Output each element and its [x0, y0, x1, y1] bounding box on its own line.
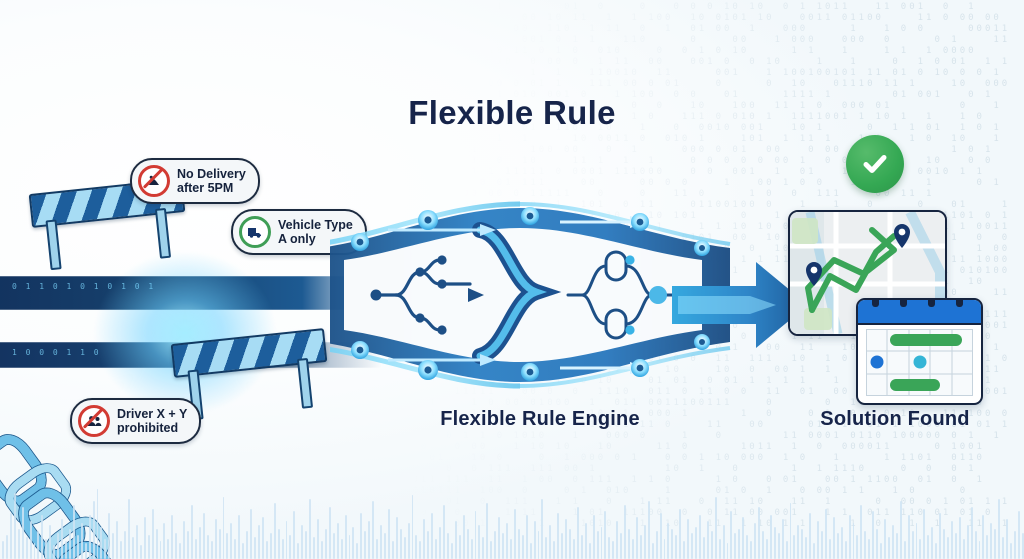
equalizer-bar — [691, 533, 693, 559]
equalizer-bar — [494, 531, 496, 559]
equalizer-bar — [963, 539, 965, 559]
equalizer-bar — [510, 539, 512, 559]
rule-pill-label: No Delivery after 5PM — [177, 167, 246, 195]
equalizer-bar — [467, 529, 469, 559]
equalizer-bar — [624, 505, 626, 559]
equalizer-bar — [786, 541, 788, 559]
equalizer-bar — [423, 519, 425, 559]
equalizer-bar — [770, 515, 772, 559]
calendar-event-dot — [871, 356, 884, 369]
equalizer-bar — [368, 521, 370, 559]
equalizer-bar — [750, 541, 752, 559]
equalizer-bar — [545, 537, 547, 559]
equalizer-bar — [37, 531, 39, 559]
equalizer-bar — [813, 543, 815, 559]
equalizer-bar — [738, 529, 740, 559]
equalizer-bar — [707, 521, 709, 559]
equalizer-bar — [10, 513, 12, 559]
equalizer-bar — [392, 541, 394, 559]
equalizer-bar — [565, 519, 567, 559]
equalizer-bar — [821, 531, 823, 559]
equalizer-bar — [526, 515, 528, 559]
equalizer-bar — [309, 499, 311, 559]
calendar-ring-icon — [872, 298, 879, 307]
equalizer-bar — [782, 519, 784, 559]
equalizer-bar — [455, 521, 457, 559]
equalizer-bar — [128, 499, 130, 559]
equalizer-bar — [266, 541, 268, 559]
equalizer-bar — [990, 523, 992, 559]
equalizer-bar — [845, 541, 847, 559]
equalizer-bar — [530, 543, 532, 559]
equalizer-bar — [396, 517, 398, 559]
equalizer-bar — [597, 531, 599, 559]
equalizer-bar — [506, 523, 508, 559]
equalizer-bar — [979, 541, 981, 559]
equalizer-bar — [61, 519, 63, 559]
schedule-calendar-card[interactable] — [856, 298, 983, 405]
truck-icon — [239, 216, 271, 248]
equalizer-bar — [447, 533, 449, 559]
equalizer-bar — [333, 533, 335, 559]
equalizer-bar — [601, 527, 603, 559]
equalizer-bar — [69, 529, 71, 559]
equalizer-bar — [435, 539, 437, 559]
equalizer-bar — [632, 539, 634, 559]
calendar-ring-icon — [900, 298, 907, 307]
equalizer-bar — [183, 521, 185, 559]
equalizer-bar — [451, 543, 453, 559]
equalizer-bar — [179, 543, 181, 559]
equalizer-bar — [927, 535, 929, 559]
equalizer-bar — [57, 533, 59, 559]
equalizer-bar — [286, 521, 288, 559]
equalizer-bar — [825, 509, 827, 559]
equalizer-bar — [329, 507, 331, 559]
equalizer-bar — [254, 537, 256, 559]
equalizer-bar — [703, 537, 705, 559]
equalizer-bar — [478, 525, 480, 559]
equalizer-bar — [727, 543, 729, 559]
equalizer-bar — [250, 509, 252, 559]
equalizer-bar — [971, 507, 973, 559]
equalizer-bar — [967, 525, 969, 559]
equalizer-bar — [297, 543, 299, 559]
equalizer-bar — [892, 525, 894, 559]
equalizer-bar — [762, 531, 764, 559]
equalizer-bar — [754, 523, 756, 559]
equalizer-bar — [955, 533, 957, 559]
equalizer-bar — [463, 515, 465, 559]
equalizer-bar — [679, 509, 681, 559]
equalizer-bar — [931, 527, 933, 559]
equalizer-bar — [628, 529, 630, 559]
equalizer-bar — [904, 541, 906, 559]
no-delivery-icon — [138, 165, 170, 197]
equalizer-bar — [26, 537, 28, 559]
equalizer-bar — [730, 511, 732, 559]
audio-equalizer-band — [0, 449, 1024, 559]
equalizer-bar — [325, 529, 327, 559]
equalizer-bar — [112, 533, 114, 559]
equalizer-bar — [301, 525, 303, 559]
equalizer-bar — [793, 535, 795, 559]
equalizer-bar — [959, 517, 961, 559]
equalizer-bar — [431, 513, 433, 559]
calendar-grid — [866, 329, 973, 396]
equalizer-bar — [41, 515, 43, 559]
equalizer-bar — [538, 531, 540, 559]
equalizer-bar — [671, 529, 673, 559]
equalizer-bar — [947, 537, 949, 559]
equalizer-bar — [640, 535, 642, 559]
equalizer-bar — [593, 515, 595, 559]
equalizer-bar — [408, 523, 410, 559]
equalizer-bar — [951, 521, 953, 559]
equalizer-bar — [805, 537, 807, 559]
equalizer-bar — [809, 513, 811, 559]
equalizer-bar — [120, 541, 122, 559]
equalizer-bar — [790, 503, 792, 559]
equalizer-bar — [888, 537, 890, 559]
equalizer-bar — [557, 513, 559, 559]
equalizer-bar — [49, 525, 51, 559]
equalizer-bar — [1002, 537, 1004, 559]
equalizer-bar — [853, 523, 855, 559]
equalizer-bar — [876, 529, 878, 559]
equalizer-bar — [419, 541, 421, 559]
equalizer-bar — [766, 539, 768, 559]
equalizer-bar — [345, 515, 347, 559]
solution-caption: Solution Found — [770, 408, 1020, 431]
equalizer-bar — [577, 507, 579, 559]
equalizer-bar — [219, 529, 221, 559]
equalizer-bar — [321, 541, 323, 559]
equalizer-bar — [522, 535, 524, 559]
equalizer-bar — [636, 517, 638, 559]
equalizer-bar — [89, 515, 91, 559]
equalizer-bar — [388, 509, 390, 559]
equalizer-bar — [939, 513, 941, 559]
solution-illustration — [770, 135, 1010, 400]
equalizer-bar — [14, 493, 16, 559]
equalizer-bar — [774, 527, 776, 559]
check-circle-icon — [846, 135, 904, 193]
engine-caption: Flexible Rule Engine — [380, 408, 700, 431]
equalizer-bar — [982, 515, 984, 559]
equalizer-bar — [935, 543, 937, 559]
equalizer-bar — [1014, 531, 1016, 559]
equalizer-bar — [404, 537, 406, 559]
equalizer-bar — [341, 539, 343, 559]
equalizer-bar — [908, 515, 910, 559]
equalizer-bar — [471, 539, 473, 559]
equalizer-bar — [742, 517, 744, 559]
equalizer-bar — [975, 531, 977, 559]
rule-pill-label: Driver X + Y prohibited — [117, 407, 187, 435]
equalizer-bar — [719, 539, 721, 559]
equalizer-bar — [85, 543, 87, 559]
equalizer-bar — [880, 543, 882, 559]
equalizer-bar — [612, 541, 614, 559]
equalizer-bar — [864, 531, 866, 559]
equalizer-bar — [223, 497, 225, 559]
equalizer-bar — [486, 503, 488, 559]
equalizer-bar — [656, 531, 658, 559]
equalizer-bar — [360, 513, 362, 559]
equalizer-bar — [660, 513, 662, 559]
equalizer-bar — [415, 535, 417, 559]
equalizer-bar — [81, 523, 83, 559]
equalizer-bar — [45, 539, 47, 559]
equalizer-bar — [163, 523, 165, 559]
equalizer-bar — [541, 499, 543, 559]
equalizer-bar — [34, 543, 36, 559]
equalizer-bar — [412, 495, 414, 559]
equalizer-bar — [211, 541, 213, 559]
equalizer-bar — [884, 519, 886, 559]
equalizer-bar — [872, 511, 874, 559]
equalizer-bar — [518, 529, 520, 559]
equalizer-bar — [868, 539, 870, 559]
equalizer-bar — [916, 523, 918, 559]
equalizer-bar — [160, 541, 162, 559]
equalizer-bar — [923, 509, 925, 559]
equalizer-bar — [337, 523, 339, 559]
equalizer-bar — [549, 525, 551, 559]
equalizer-bar — [372, 501, 374, 559]
calendar-event-dot — [914, 356, 927, 369]
equalizer-bar — [534, 521, 536, 559]
equalizer-bar — [427, 531, 429, 559]
equalizer-bar — [490, 541, 492, 559]
equalizer-bar — [376, 539, 378, 559]
equalizer-bar — [104, 539, 106, 559]
equalizer-bar — [664, 539, 666, 559]
equalizer-bar — [900, 501, 902, 559]
equalizer-bar — [699, 515, 701, 559]
equalizer-bar — [144, 517, 146, 559]
equalizer-bar — [443, 505, 445, 559]
equalizer-bar — [230, 523, 232, 559]
equalizer-bar — [553, 541, 555, 559]
equalizer-bar — [652, 543, 654, 559]
equalizer-bar — [282, 539, 284, 559]
equalizer-bar — [620, 533, 622, 559]
equalizer-bar — [616, 521, 618, 559]
equalizer-bar — [289, 535, 291, 559]
equalizer-bar — [246, 531, 248, 559]
equalizer-bar — [215, 519, 217, 559]
equalizer-bar — [667, 523, 669, 559]
equalizer-bar — [124, 531, 126, 559]
equalizer-bar — [683, 541, 685, 559]
equalizer-bar — [136, 525, 138, 559]
equalizer-bar — [108, 513, 110, 559]
equalizer-bar — [258, 525, 260, 559]
equalizer-bar — [837, 533, 839, 559]
equalizer-bar — [356, 543, 358, 559]
equalizer-bar — [514, 509, 516, 559]
equalizer-bar — [2, 541, 4, 559]
equalizer-bar — [171, 515, 173, 559]
equalizer-bar — [207, 535, 209, 559]
equalizer-bar — [305, 531, 307, 559]
equalizer-bar — [349, 535, 351, 559]
equalizer-bar — [18, 529, 20, 559]
equalizer-bar — [896, 533, 898, 559]
equalizer-bar — [498, 517, 500, 559]
equalizer-bar — [849, 515, 851, 559]
equalizer-bar — [644, 525, 646, 559]
equalizer-bar — [384, 533, 386, 559]
page-title: Flexible Rule — [0, 94, 1024, 132]
equalizer-bar — [482, 537, 484, 559]
equalizer-bar — [998, 499, 1000, 559]
rule-pill-no-delivery[interactable]: No Delivery after 5PM — [130, 158, 260, 204]
equalizer-bar — [30, 521, 32, 559]
equalizer-bar — [242, 543, 244, 559]
equalizer-bar — [475, 511, 477, 559]
equalizer-bar — [380, 525, 382, 559]
equalizer-bar — [778, 533, 780, 559]
equalizer-bar — [191, 505, 193, 559]
equalizer-bar — [97, 489, 99, 559]
equalizer-bar — [364, 531, 366, 559]
equalizer-bar — [274, 503, 276, 559]
equalizer-bar — [313, 537, 315, 559]
equalizer-bar — [986, 535, 988, 559]
equalizer-bar — [100, 527, 102, 559]
equalizer-bar — [711, 531, 713, 559]
equalizer-bar — [1022, 533, 1024, 559]
equalizer-bar — [459, 535, 461, 559]
equalizer-bar — [1018, 511, 1020, 559]
equalizer-bar — [797, 525, 799, 559]
equalizer-bar — [156, 529, 158, 559]
equalizer-bar — [226, 533, 228, 559]
equalizer-bar — [167, 539, 169, 559]
equalizer-bar — [1010, 543, 1012, 559]
rule-pill-driver-pair[interactable]: Driver X + Y prohibited — [70, 398, 201, 444]
equalizer-bar — [994, 529, 996, 559]
equalizer-bar — [262, 517, 264, 559]
equalizer-bar — [608, 537, 610, 559]
equalizer-bar — [589, 543, 591, 559]
infographic-canvas: 11 011001110 0 0 0 0 1 1 1 01 10 0001 0 … — [0, 0, 1024, 559]
equalizer-bar — [238, 515, 240, 559]
equalizer-bar — [152, 509, 154, 559]
equalizer-bar — [943, 529, 945, 559]
equalizer-bar — [758, 507, 760, 559]
equalizer-bar — [270, 533, 272, 559]
equalizer-bar — [695, 527, 697, 559]
equalizer-bar — [502, 533, 504, 559]
calendar-ring-icon — [956, 298, 963, 307]
equalizer-bar — [234, 539, 236, 559]
equalizer-bar — [734, 533, 736, 559]
equalizer-bar — [77, 535, 79, 559]
equalizer-bar — [195, 539, 197, 559]
equalizer-bar — [317, 519, 319, 559]
equalizer-bar — [860, 505, 862, 559]
no-drivers-icon — [78, 405, 110, 437]
equalizer-bar — [841, 527, 843, 559]
equalizer-bar — [352, 527, 354, 559]
equalizer-bar — [581, 535, 583, 559]
equalizer-bar — [203, 513, 205, 559]
equalizer-bar — [912, 531, 914, 559]
equalizer-bar — [919, 539, 921, 559]
equalizer-bar — [569, 529, 571, 559]
calendar-ring-icon — [928, 298, 935, 307]
equalizer-bar — [53, 545, 55, 559]
equalizer-bar — [604, 511, 606, 559]
equalizer-bar — [715, 497, 717, 559]
equalizer-bar — [400, 529, 402, 559]
equalizer-bar — [585, 523, 587, 559]
equalizer-bar — [199, 527, 201, 559]
equalizer-bar — [746, 535, 748, 559]
equalizer-bar — [73, 505, 75, 559]
calendar-event-bar — [890, 379, 940, 391]
equalizer-bar — [93, 501, 95, 559]
equalizer-bar — [561, 533, 563, 559]
equalizer-bar — [833, 517, 835, 559]
equalizer-bar — [801, 529, 803, 559]
equalizer-bar — [648, 501, 650, 559]
equalizer-bar — [140, 545, 142, 559]
equalizer-bar — [687, 519, 689, 559]
equalizer-bar — [723, 525, 725, 559]
equalizer-bar — [6, 535, 8, 559]
equalizer-bar — [817, 521, 819, 559]
equalizer-bar — [187, 531, 189, 559]
equalizer-bar — [22, 507, 24, 559]
equalizer-bar — [1006, 519, 1008, 559]
equalizer-bar — [65, 541, 67, 559]
equalizer-bar — [132, 537, 134, 559]
equalizer-bar — [573, 539, 575, 559]
equalizer-bar — [148, 535, 150, 559]
calendar-header — [858, 300, 981, 325]
equalizer-bar — [278, 529, 280, 559]
calendar-event-bar — [890, 334, 962, 346]
equalizer-bar — [856, 535, 858, 559]
equalizer-bar — [829, 539, 831, 559]
equalizer-bar — [175, 533, 177, 559]
equalizer-bar — [439, 527, 441, 559]
equalizer-bar — [293, 511, 295, 559]
equalizer-bar — [116, 521, 118, 559]
equalizer-bar — [675, 535, 677, 559]
